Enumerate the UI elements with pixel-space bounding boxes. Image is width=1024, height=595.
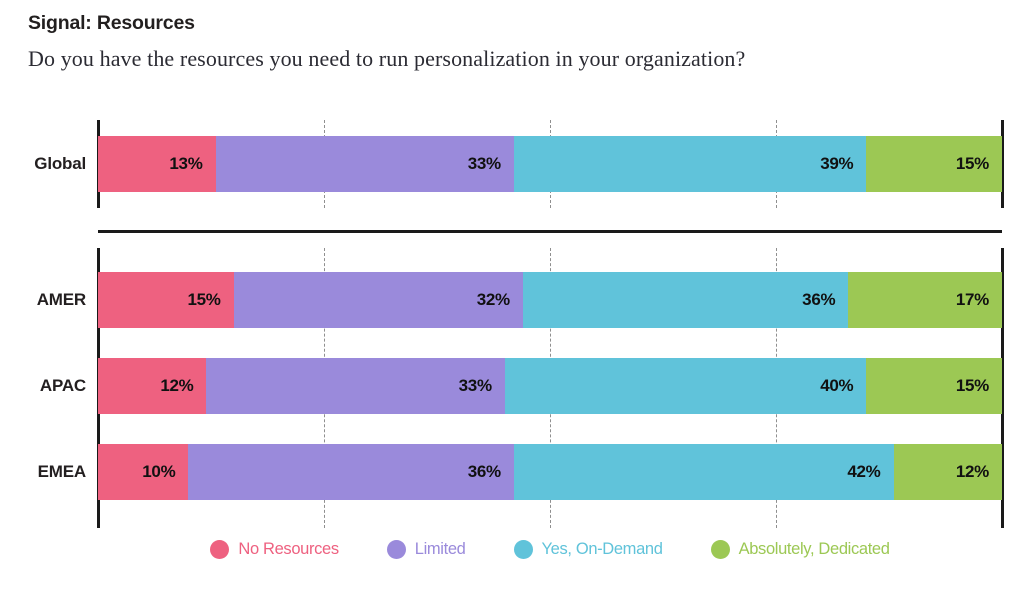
bar-segment-amer-no-resources[interactable]: 15% (98, 272, 234, 328)
bar-segment-apac-no-resources[interactable]: 12% (98, 358, 206, 414)
bar-value-label: 39% (820, 154, 866, 174)
bar-segment-global-no-resources[interactable]: 13% (98, 136, 216, 192)
legend-swatch-icon (711, 540, 730, 559)
legend-label: Yes, On-Demand (542, 540, 663, 559)
row-label-apac: APAC (40, 358, 98, 414)
bar-row-amer: AMER15%32%36%17% (98, 272, 1002, 328)
bar-value-label: 42% (847, 462, 893, 482)
stacked-bar-chart: Global13%33%39%15%AMER15%32%36%17%APAC12… (0, 0, 1024, 595)
legend-swatch-icon (210, 540, 229, 559)
bar-segment-apac-absolutely-dedicated[interactable]: 15% (866, 358, 1002, 414)
row-label-emea: EMEA (38, 444, 98, 500)
bar-value-label: 15% (956, 154, 1002, 174)
bar-row-apac: APAC12%33%40%15% (98, 358, 1002, 414)
bar-value-label: 15% (956, 376, 1002, 396)
bar-value-label: 36% (468, 462, 514, 482)
bar-segment-apac-limited[interactable]: 33% (206, 358, 504, 414)
legend-label: Absolutely, Dedicated (739, 540, 890, 559)
bar-value-label: 12% (956, 462, 1002, 482)
panel-divider (98, 230, 1002, 233)
chart-legend: No ResourcesLimitedYes, On-DemandAbsolut… (98, 540, 1002, 559)
bar-value-label: 15% (187, 290, 233, 310)
bar-segment-amer-limited[interactable]: 32% (234, 272, 523, 328)
bar-segment-global-absolutely-dedicated[interactable]: 15% (866, 136, 1002, 192)
bar-value-label: 10% (142, 462, 188, 482)
bar-segment-amer-absolutely-dedicated[interactable]: 17% (848, 272, 1002, 328)
bar-value-label: 32% (477, 290, 523, 310)
bar-row-emea: EMEA10%36%42%12% (98, 444, 1002, 500)
bar-value-label: 17% (956, 290, 1002, 310)
bar-value-label: 12% (160, 376, 206, 396)
bar-segment-global-limited[interactable]: 33% (216, 136, 514, 192)
bar-value-label: 33% (459, 376, 505, 396)
bar-value-label: 33% (468, 154, 514, 174)
bar-value-label: 36% (802, 290, 848, 310)
legend-swatch-icon (514, 540, 533, 559)
bar-segment-global-yes-on-demand[interactable]: 39% (514, 136, 867, 192)
legend-label: No Resources (238, 540, 338, 559)
legend-label: Limited (415, 540, 466, 559)
bar-segment-amer-yes-on-demand[interactable]: 36% (523, 272, 848, 328)
legend-swatch-icon (387, 540, 406, 559)
bar-segment-emea-limited[interactable]: 36% (188, 444, 513, 500)
bar-value-label: 40% (820, 376, 866, 396)
bar-segment-apac-yes-on-demand[interactable]: 40% (505, 358, 867, 414)
legend-item-no-resources[interactable]: No Resources (210, 540, 338, 559)
legend-item-yes-on-demand[interactable]: Yes, On-Demand (514, 540, 663, 559)
bar-segment-emea-yes-on-demand[interactable]: 42% (514, 444, 894, 500)
row-label-amer: AMER (37, 272, 98, 328)
bar-value-label: 13% (169, 154, 215, 174)
legend-item-limited[interactable]: Limited (387, 540, 466, 559)
legend-item-absolutely-dedicated[interactable]: Absolutely, Dedicated (711, 540, 890, 559)
bar-segment-emea-absolutely-dedicated[interactable]: 12% (894, 444, 1002, 500)
bar-segment-emea-no-resources[interactable]: 10% (98, 444, 188, 500)
row-label-global: Global (34, 136, 98, 192)
bar-row-global: Global13%33%39%15% (98, 136, 1002, 192)
